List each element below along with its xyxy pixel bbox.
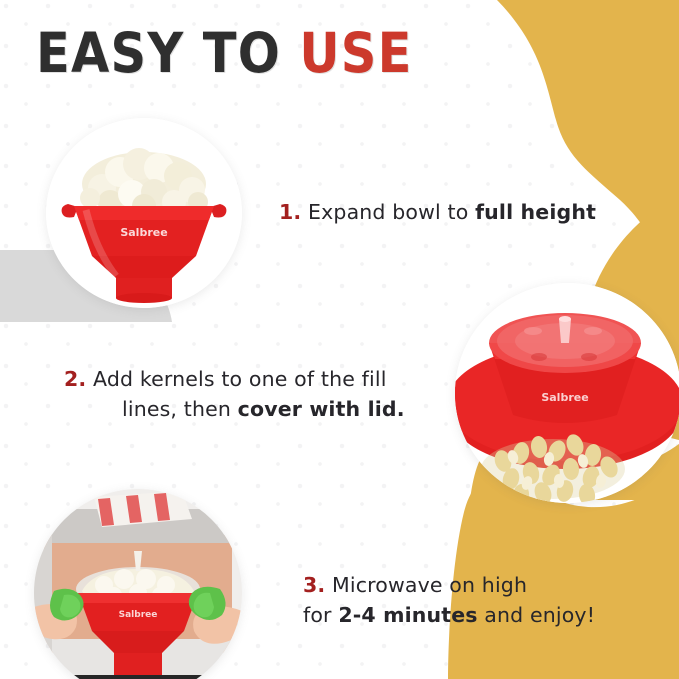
step-2-line-2-part-2: cover with lid.	[238, 397, 405, 421]
brand-label: Salbree	[119, 610, 158, 620]
step-3-text: 3. Microwave on high for 2-4 minutes and…	[303, 570, 595, 630]
collapsed-bowl-with-lid-illustration: Salbree	[455, 283, 679, 503]
step-1-number: 1.	[279, 200, 301, 224]
step-2-image: Salbree	[455, 283, 679, 503]
page-title-accent: USE	[299, 21, 412, 85]
microwave-photo-illustration: Salbree	[34, 489, 242, 679]
step-2-line-1: Add kernels to one of the fill	[93, 367, 387, 391]
step-3-line-1: Microwave on high	[332, 573, 527, 597]
expanded-bowl-with-popcorn-illustration: Salbree	[46, 118, 242, 308]
page-title-main: EASY TO	[36, 21, 299, 85]
step-3-line-2-part-3: and enjoy!	[478, 603, 595, 627]
step-3-line-2-part-1: for	[303, 603, 338, 627]
page-title: EASY TO USE	[36, 22, 413, 84]
step-1-text: 1. Expand bowl to full height	[279, 197, 596, 227]
lid-vent-knob	[559, 319, 571, 343]
bowl-base	[114, 653, 162, 675]
step-2-number: 2.	[64, 367, 86, 391]
microwave-door-shadow	[34, 675, 242, 679]
step-1-line-1-part-1: Expand bowl to	[308, 200, 475, 224]
step-3-image: Salbree	[34, 489, 242, 679]
step-3-line-2-part-2: 2-4 minutes	[338, 603, 477, 627]
infographic-canvas: EASY TO USE	[0, 0, 679, 679]
step-1-line-1-part-2: full height	[475, 200, 596, 224]
step-3-number: 3.	[303, 573, 325, 597]
brand-label: Salbree	[541, 391, 588, 404]
step-2-text: 2. Add kernels to one of the fill lines,…	[64, 364, 405, 424]
step-2-line-2-part-1: lines, then	[122, 397, 238, 421]
brand-label: Salbree	[120, 226, 167, 239]
step-1-image: Salbree	[46, 118, 242, 308]
